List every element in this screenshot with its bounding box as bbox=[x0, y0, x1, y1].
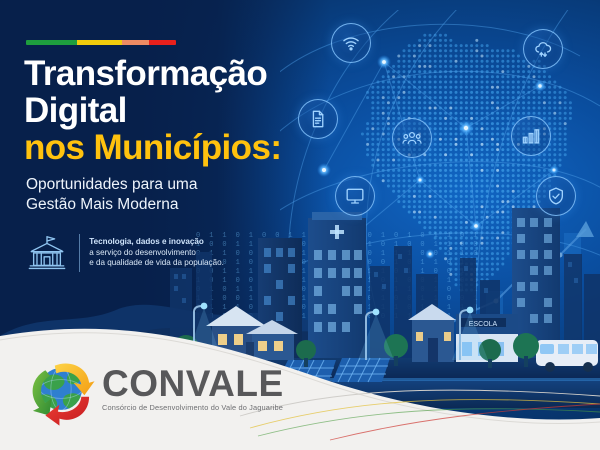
recycle-globe-logo-icon bbox=[22, 350, 100, 428]
shield-check-icon bbox=[536, 176, 576, 216]
headline-block: Transformação Digital nos Municípios: Op… bbox=[24, 55, 324, 215]
tagline-divider bbox=[79, 234, 80, 272]
poster-canvas: 0 1 1 0 1 0 0 1 1 0 1 1 0 0 1 0 1 0 1 1 … bbox=[0, 0, 600, 450]
monitor-icon bbox=[335, 176, 375, 216]
tagline-text: Tecnologia, dados e inovação a serviço d… bbox=[89, 237, 224, 269]
bar-chart-icon bbox=[511, 116, 551, 156]
headline-line-1: Transformação bbox=[24, 55, 324, 92]
wifi-icon bbox=[331, 23, 371, 63]
logo-wordmark: CONVALE Consórcio de Desenvolvimento do … bbox=[102, 366, 284, 412]
tagline-line-2: a serviço do desenvolvimento bbox=[89, 248, 196, 257]
convale-logo[interactable]: CONVALE Consórcio de Desenvolvimento do … bbox=[22, 350, 284, 428]
accent-color-bar bbox=[26, 40, 176, 45]
subheadline-line-2: Gestão Mais Moderna bbox=[26, 195, 324, 215]
tagline-block: Tecnologia, dados e inovação a serviço d… bbox=[24, 232, 224, 274]
logo-tagline: Consórcio de Desenvolvimento do Vale do … bbox=[102, 403, 284, 412]
headline-line-2: Digital bbox=[24, 92, 324, 129]
subheadline: Oportunidades para uma Gestão Mais Moder… bbox=[26, 175, 324, 215]
tagline-line-3: e da qualidade de vida da população. bbox=[89, 258, 224, 267]
subheadline-line-1: Oportunidades para uma bbox=[26, 175, 324, 195]
cloud-sync-icon bbox=[523, 29, 563, 69]
people-group-icon bbox=[392, 118, 432, 158]
tagline-line-1: Tecnologia, dados e inovação bbox=[89, 237, 204, 246]
government-building-icon bbox=[24, 232, 70, 274]
headline-line-3: nos Municípios: bbox=[24, 129, 324, 166]
logo-name: CONVALE bbox=[102, 366, 284, 402]
